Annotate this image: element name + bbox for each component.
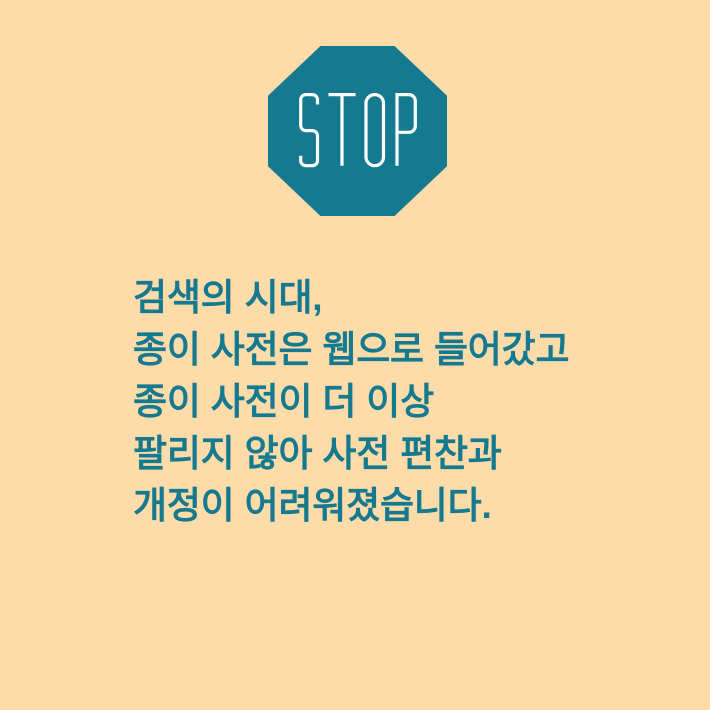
stop-sign [268, 46, 447, 216]
message-line-1: 검색의 시대, [133, 272, 673, 324]
message-line-5: 개정이 어려워졌습니다. [133, 480, 673, 532]
message-line-2: 종이 사전은 웹으로 들어갔고 [133, 324, 673, 376]
slide-card: 검색의 시대, 종이 사전은 웹으로 들어갔고 종이 사전이 더 이상 팔리지 … [0, 0, 710, 710]
message-line-4: 팔리지 않아 사전 편찬과 [133, 428, 673, 480]
message-block: 검색의 시대, 종이 사전은 웹으로 들어갔고 종이 사전이 더 이상 팔리지 … [133, 272, 673, 532]
stop-text-icon [297, 93, 419, 169]
message-line-3: 종이 사전이 더 이상 [133, 376, 673, 428]
stop-sign-label [268, 46, 447, 216]
